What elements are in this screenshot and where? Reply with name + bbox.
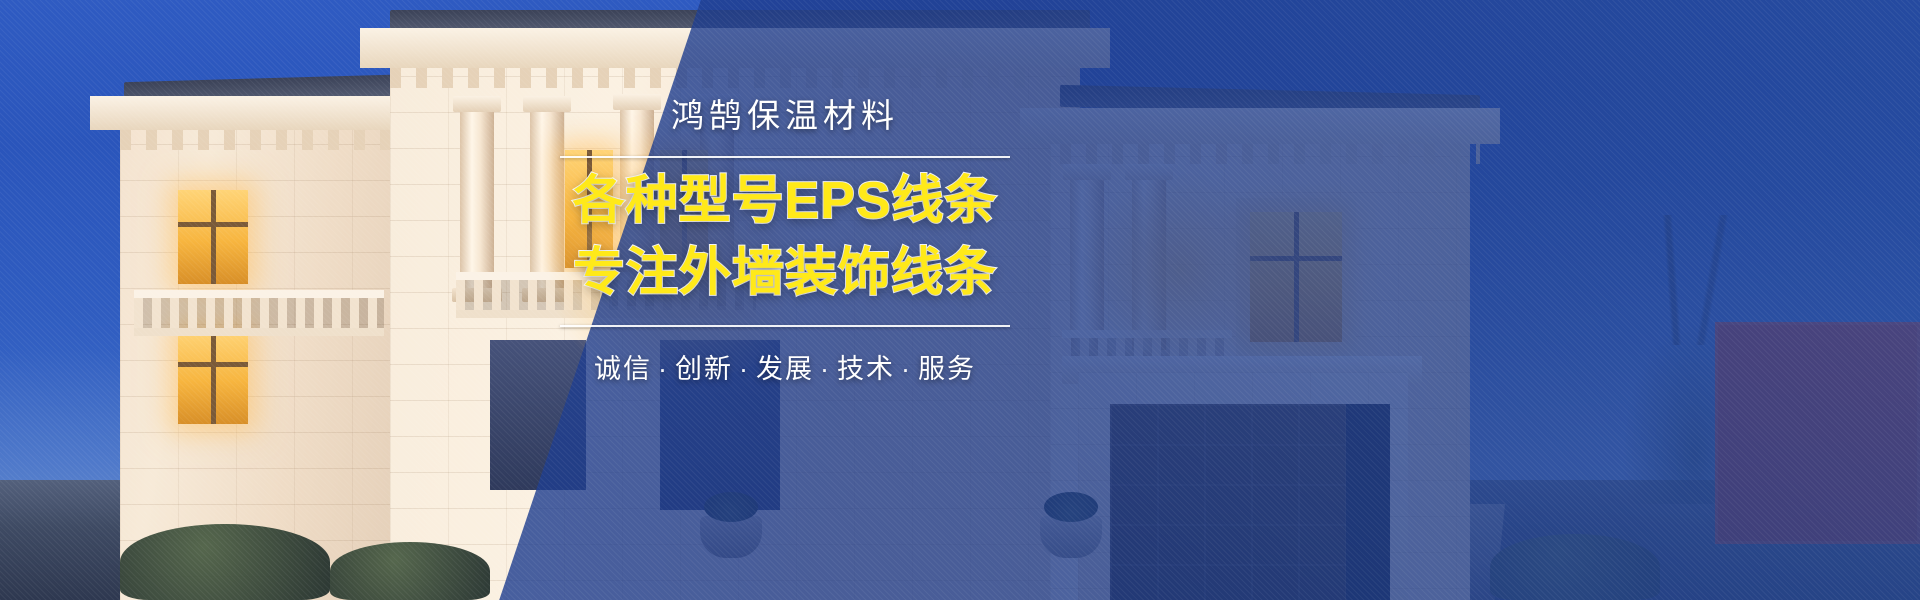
tagline-item: 发展 — [756, 354, 814, 384]
window-glow-left-lower — [178, 330, 248, 424]
balustrade-left — [134, 290, 384, 336]
window-glow-right — [1250, 212, 1342, 342]
column-6 — [1132, 178, 1166, 352]
column-5 — [1070, 178, 1104, 352]
cornice-right — [1020, 108, 1500, 144]
divider-bottom — [560, 325, 1010, 327]
brand-name: 鸿鹄保温材料 — [560, 96, 1010, 136]
garage-door — [1110, 404, 1346, 600]
garage-opening — [1346, 404, 1390, 600]
window-mullion-h — [178, 222, 248, 227]
tagline-item: 技术 — [837, 354, 895, 384]
tagline-item: 诚信 — [594, 354, 652, 384]
tagline-separator: · — [901, 354, 912, 384]
cornice-centre — [360, 28, 1110, 68]
dentils-centre — [390, 68, 1090, 88]
shrub-right — [1490, 534, 1660, 600]
shrub-centre-left — [330, 542, 490, 600]
tagline-separator: · — [739, 354, 750, 384]
window-mullion-v — [211, 330, 216, 424]
tagline-item: 创新 — [675, 354, 733, 384]
hero-banner: 鸿鹄保温材料 各种型号EPS线条 专注外墙装饰线条 诚信·创新·发展·技术·服务 — [0, 0, 1920, 600]
tagline-separator: · — [658, 354, 669, 384]
headline-line-2: 专注外墙装饰线条 — [560, 244, 1010, 303]
column-1 — [460, 110, 494, 290]
window-mullion-v — [211, 190, 216, 284]
column-2 — [530, 110, 564, 290]
dentils-right — [1060, 144, 1480, 164]
planter-left — [700, 516, 762, 558]
shrub-left — [120, 524, 330, 600]
villa-left-wing — [120, 108, 420, 600]
window-mullion-h — [178, 362, 248, 367]
tagline-separator: · — [820, 354, 831, 384]
window-mullion-v — [1294, 212, 1299, 342]
divider-top — [560, 156, 1010, 158]
tagline-item: 服务 — [918, 354, 976, 384]
banner-content: 鸿鹄保温材料 各种型号EPS线条 专注外墙装饰线条 诚信·创新·发展·技术·服务 — [560, 96, 1010, 386]
planter-right — [1040, 516, 1102, 558]
headline-line-1: 各种型号EPS线条 — [560, 172, 1010, 231]
window-glow-left-upper — [178, 190, 248, 284]
window-mullion-h — [1250, 256, 1342, 261]
masonry-joints — [120, 108, 420, 600]
red-panel — [1715, 322, 1920, 544]
tagline: 诚信·创新·发展·技术·服务 — [560, 347, 1010, 386]
